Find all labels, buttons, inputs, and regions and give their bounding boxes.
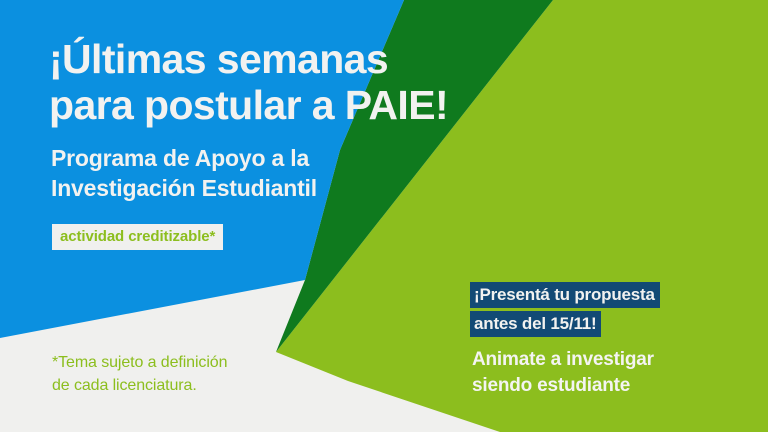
subtitle-line-1: Programa de Apoyo a la: [51, 144, 481, 174]
headline-line-2: para postular a PAIE!: [49, 82, 569, 128]
deadline-line-1: ¡Presentá tu propuesta: [470, 282, 660, 308]
program-subtitle: Programa de Apoyo a la Investigación Est…: [51, 144, 481, 204]
footnote-line-2: de cada licenciatura.: [52, 375, 227, 398]
footnote-line-1: *Tema sujeto a definición: [52, 352, 227, 375]
headline: ¡Últimas semanas para postular a PAIE!: [49, 36, 569, 129]
deadline-callout: ¡Presentá tu propuesta antes del 15/11!: [470, 282, 660, 340]
call-to-action: Animate a investigar siendo estudiante: [472, 347, 654, 399]
deadline-line-2: antes del 15/11!: [470, 311, 601, 337]
footnote-disclaimer: *Tema sujeto a definición de cada licenc…: [52, 352, 227, 397]
cta-line-2: siendo estudiante: [472, 373, 654, 399]
promotional-poster: ¡Últimas semanas para postular a PAIE! P…: [0, 0, 768, 432]
subtitle-line-2: Investigación Estudiantil: [51, 174, 481, 204]
headline-line-1: ¡Últimas semanas: [49, 36, 569, 82]
creditable-activity-badge: actividad creditizable*: [52, 224, 223, 250]
cta-line-1: Animate a investigar: [472, 347, 654, 373]
